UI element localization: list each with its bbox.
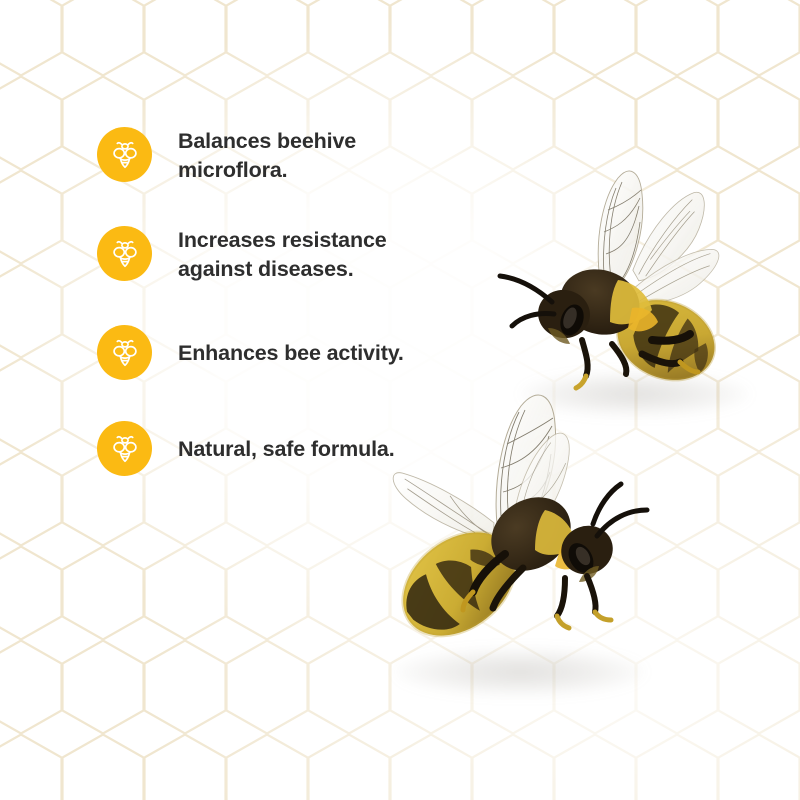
bee-photo-top — [482, 162, 742, 412]
benefit-item-2: Increases resistance against diseases. — [97, 226, 457, 284]
bee-icon-badge-1 — [97, 127, 152, 182]
bee-icon — [108, 432, 142, 466]
benefit-label-1: Balances beehive microflora. — [178, 127, 356, 185]
benefit-label-3: Enhances bee activity. — [178, 325, 404, 368]
bee-icon — [108, 237, 142, 271]
bee-icon — [108, 336, 142, 370]
bee-icon — [108, 138, 142, 172]
bee-photo-bottom — [385, 388, 660, 668]
bee-icon-badge-2 — [97, 226, 152, 281]
bee-icon-badge-4 — [97, 421, 152, 476]
promo-graphic: Balances beehive microflora. — [0, 0, 800, 800]
benefit-label-2: Increases resistance against diseases. — [178, 226, 387, 284]
benefit-label-4: Natural, safe formula. — [178, 421, 395, 464]
bee-icon-badge-3 — [97, 325, 152, 380]
benefit-item-3: Enhances bee activity. — [97, 325, 457, 380]
benefit-item-1: Balances beehive microflora. — [97, 127, 457, 185]
